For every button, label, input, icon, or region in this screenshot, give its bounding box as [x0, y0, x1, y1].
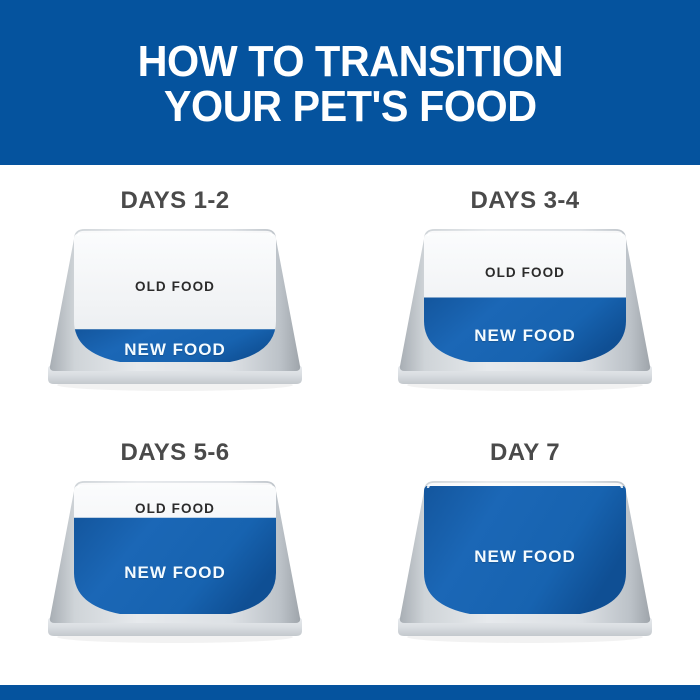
bowl-graphic: [30, 223, 320, 395]
food-fill-group: [70, 518, 282, 622]
bowl-illustration-day-7: NEW FOOD: [380, 475, 670, 647]
step-card-days-1-2: DAYS 1-2: [0, 165, 350, 417]
step-title-days-1-2: DAYS 1-2: [120, 187, 229, 215]
bowl-graphic: [380, 475, 670, 647]
step-card-days-5-6: DAYS 5-6: [0, 417, 350, 669]
header-banner: HOW TO TRANSITION YOUR PET'S FOOD: [0, 0, 700, 165]
step-card-days-3-4: DAYS 3-4: [350, 165, 700, 417]
step-title-days-3-4: DAYS 3-4: [470, 187, 579, 215]
page-title-line-1: HOW TO TRANSITION: [137, 40, 563, 85]
step-card-day-7: DAY 7: [350, 417, 700, 669]
bowl-illustration-days-5-6: OLD FOOD NEW FOOD: [30, 475, 320, 647]
new-food-fill: [70, 518, 282, 622]
bowl-graphic: [380, 223, 670, 395]
food-fill-group: [420, 486, 632, 622]
bowl-graphic: [30, 475, 320, 647]
step-title-days-5-6: DAYS 5-6: [120, 439, 229, 467]
bowl-illustration-days-1-2: OLD FOOD NEW FOOD: [30, 223, 320, 395]
step-title-day-7: DAY 7: [490, 439, 560, 467]
new-food-fill: [420, 486, 632, 622]
transition-steps-grid: DAYS 1-2: [0, 165, 700, 685]
page-title-line-2: YOUR PET'S FOOD: [164, 85, 537, 130]
bowl-illustration-days-3-4: OLD FOOD NEW FOOD: [380, 223, 670, 395]
footer-accent-bar: [0, 685, 700, 700]
